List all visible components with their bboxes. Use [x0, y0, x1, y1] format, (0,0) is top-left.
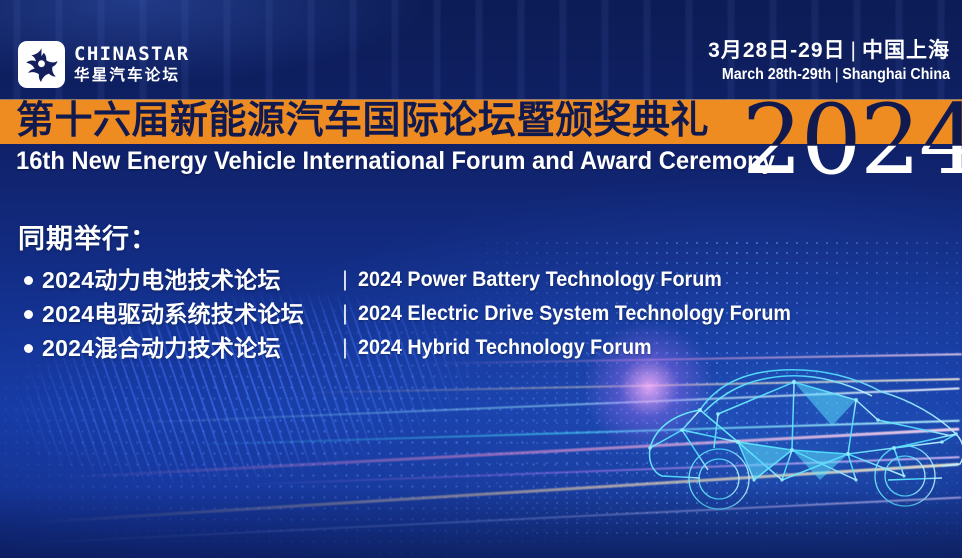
- bottom-fade: [0, 488, 962, 558]
- forum-name-cn: 2024电驱动系统技术论坛: [42, 299, 332, 329]
- event-poster: CHINASTAR 华星汽车论坛 3月28日-29日|中国上海 March 28…: [0, 0, 962, 558]
- star-pinwheel-logo-icon: [18, 41, 65, 88]
- page-title-en: 16th New Energy Vehicle International Fo…: [16, 146, 775, 176]
- concurrent-heading: 同期举行：: [18, 222, 819, 256]
- forum-separator: |: [332, 299, 358, 329]
- forum-name-en: 2024 Power Battery Technology Forum: [358, 265, 722, 295]
- event-date-location: 3月28日-29日|中国上海 March 28th-29th|Shanghai …: [702, 38, 950, 85]
- event-date-en: March 28th-29th: [722, 66, 831, 83]
- list-item: 2024电驱动系统技术论坛 | 2024 Electric Drive Syst…: [18, 299, 819, 329]
- date-separator-cn: |: [846, 39, 862, 62]
- page-title-cn: 第十六届新能源汽车国际论坛暨颁奖典礼: [16, 99, 709, 144]
- date-separator-en: |: [831, 66, 842, 83]
- brand-name-en: CHINASTAR: [74, 45, 190, 65]
- event-location-en: Shanghai China: [842, 66, 950, 83]
- bullet-icon: [24, 276, 33, 285]
- brand-name-cn: 华星汽车论坛: [74, 67, 190, 85]
- forum-name-cn: 2024混合动力技术论坛: [42, 333, 332, 363]
- bullet-icon: [24, 310, 33, 319]
- poster-header: CHINASTAR 华星汽车论坛 3月28日-29日|中国上海 March 28…: [0, 0, 962, 100]
- forum-name-en: 2024 Hybrid Technology Forum: [358, 333, 652, 363]
- forum-separator: |: [332, 333, 358, 363]
- event-date-cn: 3月28日-29日: [708, 39, 845, 62]
- forum-separator: |: [332, 265, 358, 295]
- forum-name-cn: 2024动力电池技术论坛: [42, 265, 332, 295]
- brand-logo: CHINASTAR 华星汽车论坛: [18, 41, 190, 88]
- bullet-icon: [24, 344, 33, 353]
- concurrent-events-block: 同期举行： 2024动力电池技术论坛 | 2024 Power Battery …: [18, 222, 819, 367]
- list-item: 2024动力电池技术论坛 | 2024 Power Battery Techno…: [18, 265, 819, 295]
- list-item: 2024混合动力技术论坛 | 2024 Hybrid Technology Fo…: [18, 333, 819, 363]
- forum-name-en: 2024 Electric Drive System Technology Fo…: [358, 299, 791, 329]
- event-location-cn: 中国上海: [862, 39, 950, 62]
